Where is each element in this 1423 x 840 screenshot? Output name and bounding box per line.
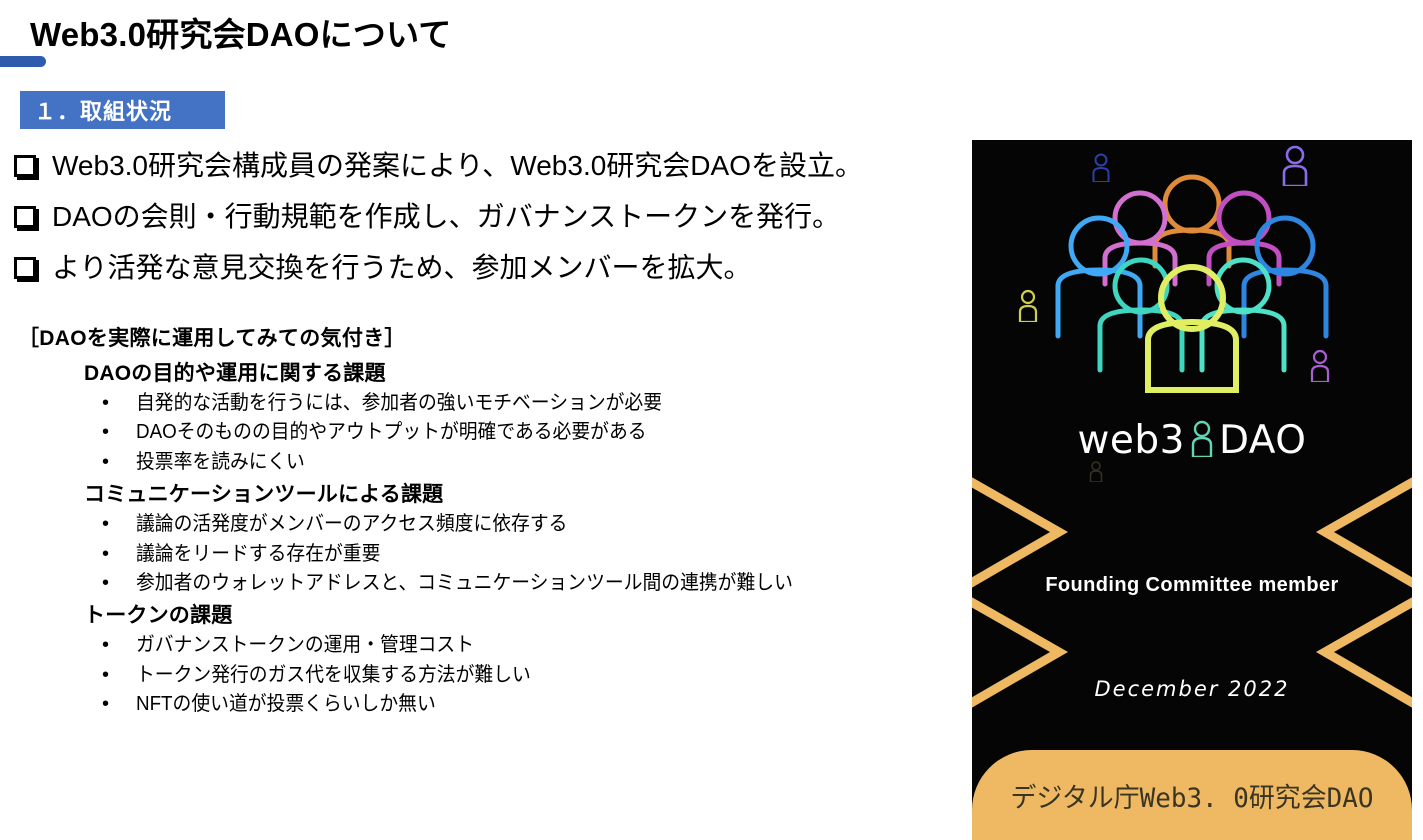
findings-heading: ［DAOを実際に運用してみての気付き］ — [18, 322, 938, 352]
bullet-dot-icon: • — [102, 510, 136, 539]
list-item: • DAOそのものの目的やアウトプットが明確である必要がある — [102, 418, 938, 447]
bullet-dot-icon: • — [102, 418, 136, 447]
bullet-dot-icon: • — [102, 661, 136, 690]
bullet-text: 投票率を読みにくい — [136, 448, 305, 477]
wordmark-left-text: web3 — [1077, 418, 1184, 463]
findings-block: ［DAOを実際に運用してみての気付き］ DAOの目的や運用に関する課題 • 自発… — [18, 322, 938, 720]
findings-group-list: • 議論の活発度がメンバーのアクセス頻度に依存する • 議論をリードする存在が重… — [102, 510, 938, 598]
list-item: • 投票率を読みにくい — [102, 448, 938, 477]
wordmark-right-text: DAO — [1219, 418, 1307, 463]
card-wordmark: web3 DAO — [972, 418, 1412, 463]
bullet-text: 議論の活発度がメンバーのアクセス頻度に依存する — [136, 510, 567, 539]
list-item: より活発な意見交換を行うため、参加メンバーを拡大。 — [14, 250, 964, 286]
checklist-text: Web3.0研究会構成員の発案により、Web3.0研究会DAOを設立。 — [52, 148, 863, 184]
list-item: DAOの会則・行動規範を作成し、ガバナンストークンを発行。 — [14, 199, 964, 235]
findings-group-head: トークンの課題 — [84, 599, 938, 629]
list-item: • 自発的な活動を行うには、参加者の強いモチベーションが必要 — [102, 389, 938, 418]
list-item: • 議論の活発度がメンバーのアクセス頻度に依存する — [102, 510, 938, 539]
title-accent-bar — [0, 56, 46, 67]
findings-group-list: • ガバナンストークンの運用・管理コスト • トークン発行のガス代を収集する方法… — [102, 631, 938, 719]
findings-group-head: DAOの目的や運用に関する課題 — [84, 357, 938, 387]
section-chip-label: １．取組状況 — [34, 94, 172, 126]
bullet-text: 議論をリードする存在が重要 — [136, 540, 380, 569]
person-scatter-icon — [1088, 460, 1104, 487]
list-item: Web3.0研究会構成員の発案により、Web3.0研究会DAOを設立。 — [14, 148, 964, 184]
card-footer-text: デジタル庁Web3. 0研究会DAO — [1011, 776, 1374, 815]
checkbox-icon — [14, 257, 36, 279]
bullet-dot-icon: • — [102, 690, 136, 719]
findings-group-list: • 自発的な活動を行うには、参加者の強いモチベーションが必要 • DAOそのもの… — [102, 389, 938, 477]
bullet-text: トークン発行のガス代を収集する方法が難しい — [136, 661, 531, 690]
findings-group: トークンの課題 • ガバナンストークンの運用・管理コスト • トークン発行のガス… — [84, 599, 938, 719]
page-title: Web3.0研究会DAOについて — [30, 8, 451, 56]
person-scatter-icon — [1016, 288, 1040, 327]
list-item: • 参加者のウォレットアドレスと、コミュニケーションツール間の連携が難しい — [102, 569, 938, 598]
checklist-text: より活発な意見交換を行うため、参加メンバーを拡大。 — [52, 250, 751, 286]
bullet-text: 参加者のウォレットアドレスと、コミュニケーションツール間の連携が難しい — [136, 569, 793, 598]
bullet-dot-icon: • — [102, 389, 136, 418]
card-role-line: Founding Committee member — [972, 574, 1412, 597]
findings-group: DAOの目的や運用に関する課題 • 自発的な活動を行うには、参加者の強いモチベー… — [84, 357, 938, 477]
checklist-text: DAOの会則・行動規範を作成し、ガバナンストークンを発行。 — [52, 199, 840, 235]
bullet-dot-icon: • — [102, 448, 136, 477]
list-item: • ガバナンストークンの運用・管理コスト — [102, 631, 938, 660]
nft-membership-card: web3 DAO Founding Committee member Decem… — [972, 140, 1412, 840]
findings-group-head: コミュニケーションツールによる課題 — [84, 478, 938, 508]
bullet-dot-icon: • — [102, 540, 136, 569]
bullet-dot-icon: • — [102, 631, 136, 660]
slide-root: Web3.0研究会DAOについて １．取組状況 Web3.0研究会構成員の発案に… — [0, 0, 1423, 828]
card-date-line: December 2022 — [972, 677, 1412, 701]
section-chip: １．取組状況 — [20, 91, 225, 129]
checklist: Web3.0研究会構成員の発案により、Web3.0研究会DAOを設立。 DAOの… — [14, 148, 964, 300]
bullet-text: DAOそのものの目的やアウトプットが明確である必要がある — [136, 418, 647, 447]
bullet-text: 自発的な活動を行うには、参加者の強いモチベーションが必要 — [136, 389, 662, 418]
crowd-logo-icon — [1042, 158, 1342, 413]
checkbox-icon — [14, 155, 36, 177]
checkbox-icon — [14, 206, 36, 228]
list-item: • NFTの使い道が投票くらいしか無い — [102, 690, 938, 719]
card-footer-band: デジタル庁Web3. 0研究会DAO — [972, 750, 1412, 840]
findings-group: コミュニケーションツールによる課題 • 議論の活発度がメンバーのアクセス頻度に依… — [84, 478, 938, 598]
list-item: • トークン発行のガス代を収集する方法が難しい — [102, 661, 938, 690]
wordmark-person-icon — [1189, 419, 1215, 462]
list-item: • 議論をリードする存在が重要 — [102, 540, 938, 569]
bullet-dot-icon: • — [102, 569, 136, 598]
bullet-text: NFTの使い道が投票くらいしか無い — [136, 690, 436, 719]
bullet-text: ガバナンストークンの運用・管理コスト — [136, 631, 474, 660]
